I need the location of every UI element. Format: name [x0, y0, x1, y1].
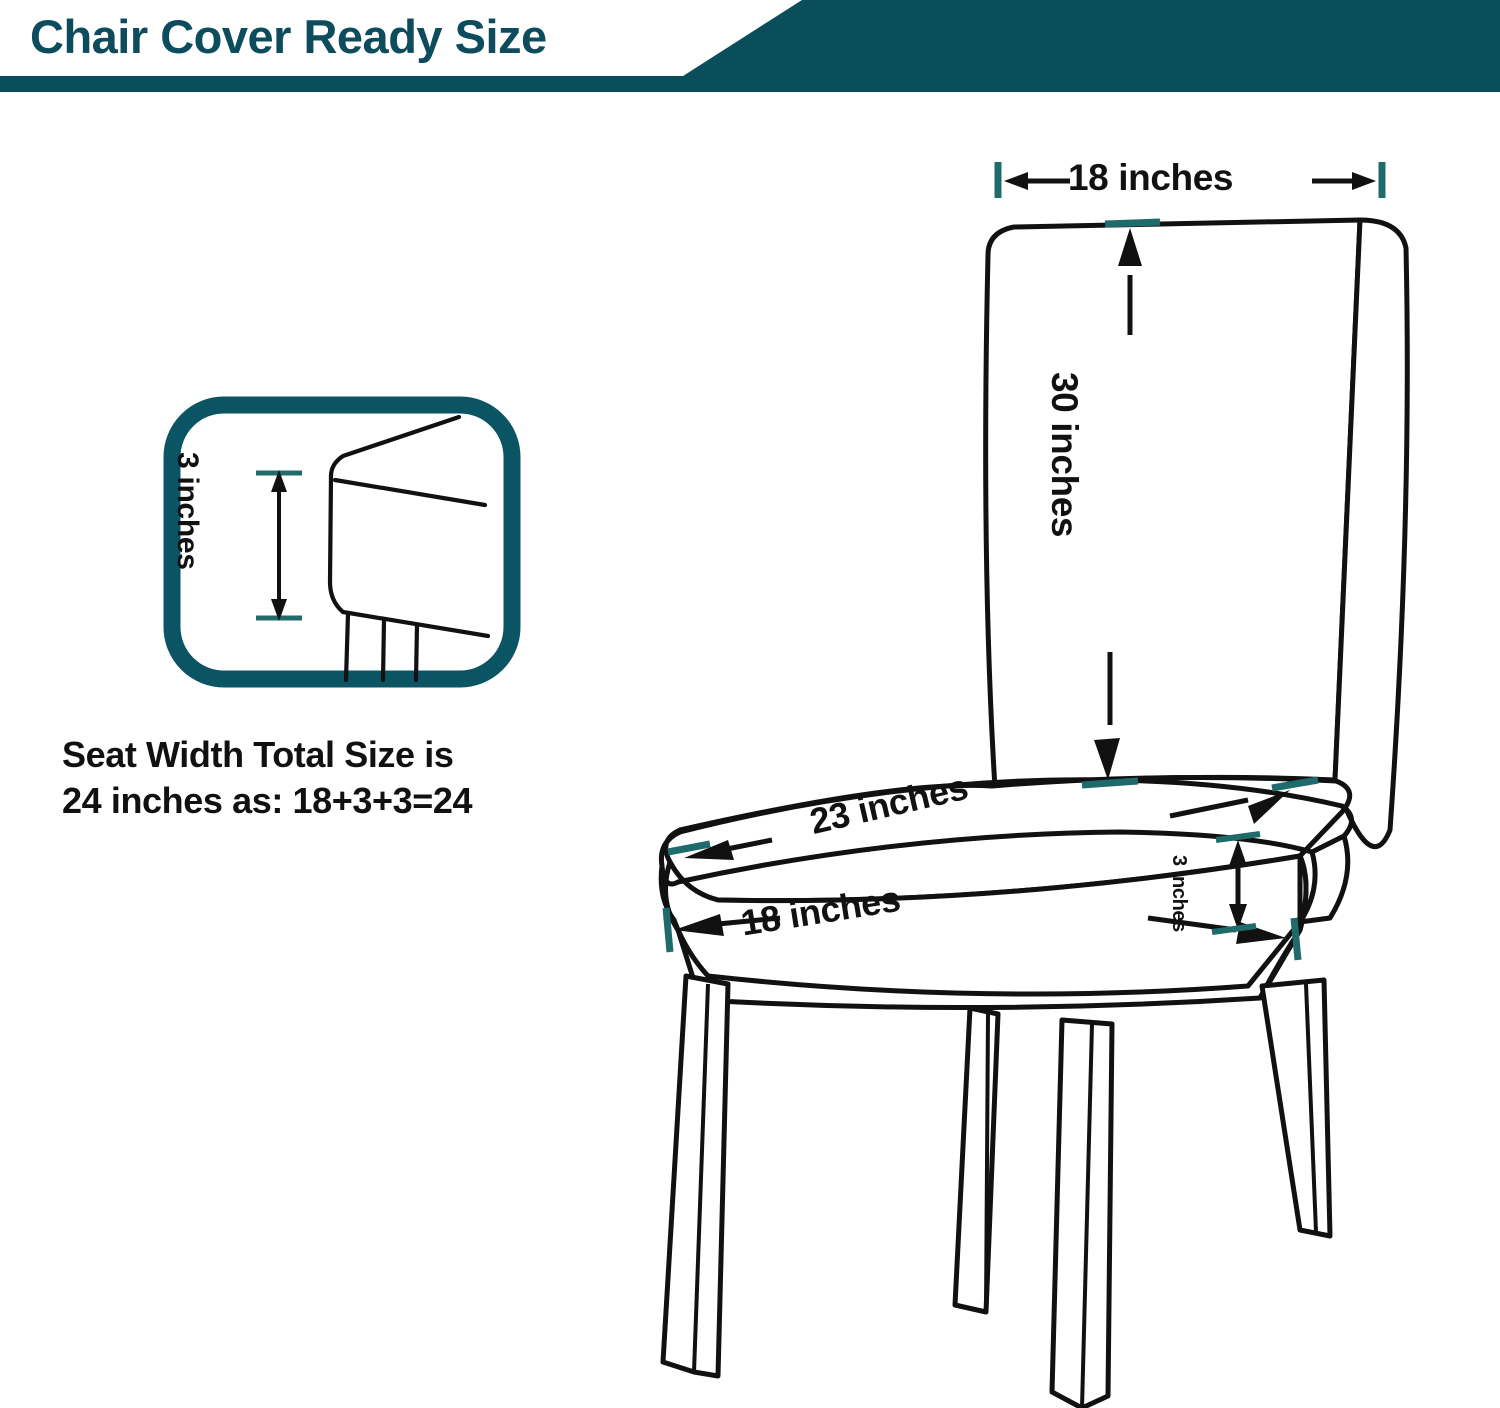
- chair-legs: [663, 976, 1330, 1408]
- leg-rear-left: [955, 1008, 998, 1312]
- chair-diagram: [600, 140, 1480, 1408]
- dim-label-back-width-top: 18 inches: [1068, 157, 1233, 199]
- caption-line-2: 24 inches as: 18+3+3=24: [62, 778, 682, 824]
- chair-size-infographic: Chair Cover Ready Size: [0, 0, 1500, 1408]
- leg-inner-lines: [694, 984, 1316, 1408]
- chair-outline: [666, 220, 1408, 1008]
- tick-top: [1105, 222, 1160, 224]
- header-accent-bar: [0, 76, 1500, 92]
- dim-label-seat-thickness: 3 inches: [1167, 855, 1190, 932]
- tick-left: [666, 908, 670, 952]
- inset-frame: [172, 405, 512, 679]
- tick-bottom: [1082, 781, 1138, 785]
- dim-label-back-height: 30 inches: [1043, 372, 1085, 537]
- leg-rear-right: [1262, 980, 1330, 1236]
- seat-thickness-detail-panel: [163, 396, 521, 688]
- caption-line-1: Seat Width Total Size is: [62, 732, 682, 778]
- inset-dimension-label: 3 inches: [170, 452, 204, 570]
- backrest-front-panel: [986, 220, 1360, 788]
- page-title: Chair Cover Ready Size: [30, 7, 547, 67]
- caption-block: Seat Width Total Size is 24 inches as: 1…: [62, 732, 682, 824]
- tick-right: [1294, 918, 1298, 960]
